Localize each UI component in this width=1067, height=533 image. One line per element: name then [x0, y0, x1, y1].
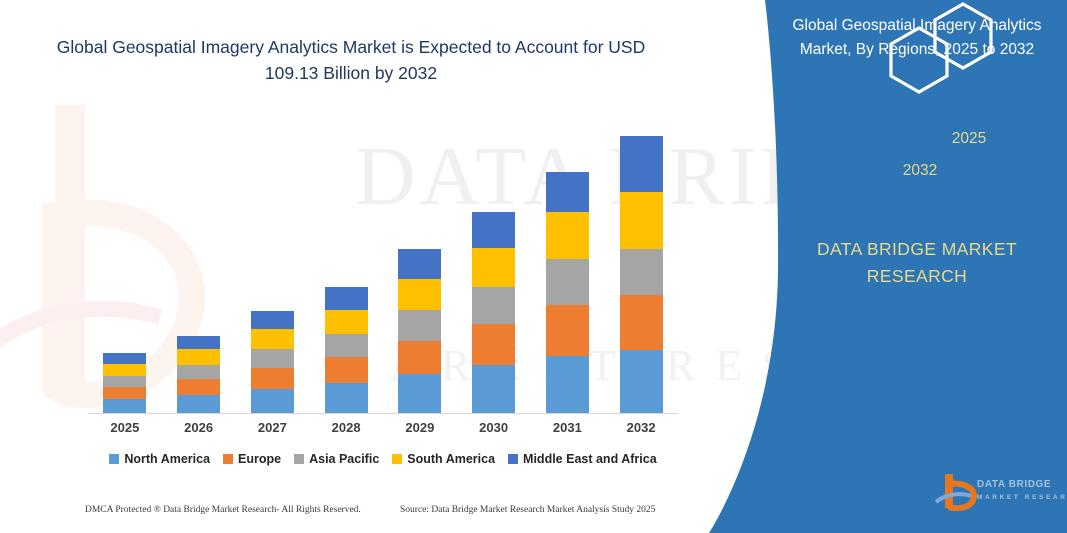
- bar-series-container: [88, 100, 678, 413]
- bar-segment-north-america: [103, 399, 146, 413]
- bar-column-2025: [88, 100, 161, 413]
- footer-source: Source: Data Bridge Market Research Mark…: [400, 505, 655, 515]
- bar-column-2030: [457, 100, 530, 413]
- bar-column-2026: [162, 100, 235, 413]
- x-axis-line: [88, 413, 678, 414]
- hexagon-2032-outline: [891, 28, 947, 92]
- bar-column-2027: [236, 100, 309, 413]
- logo-mark-icon: [935, 472, 979, 512]
- bar-segment-europe: [177, 379, 220, 395]
- company-logo: DATA BRIDGE MARKET RESEARCH: [935, 472, 1067, 518]
- brand-panel: Global Geospatial Imagery Analytics Mark…: [647, 0, 1067, 533]
- bar-segment-north-america: [325, 383, 368, 413]
- bar-segment-north-america: [177, 395, 220, 413]
- bar-segment-asia-pacific: [177, 365, 220, 379]
- legend-label: North America: [124, 452, 210, 466]
- legend-swatch-icon: [508, 454, 518, 464]
- bar-segment-asia-pacific: [103, 376, 146, 387]
- bar-segment-middle-east-and-africa: [325, 287, 368, 310]
- bar-segment-south-america: [546, 212, 589, 259]
- bar-stack: [546, 172, 589, 413]
- bar-segment-north-america: [251, 389, 294, 413]
- bar-segment-south-america: [472, 248, 515, 287]
- x-axis-label-2025: 2025: [88, 420, 161, 435]
- bar-segment-middle-east-and-africa: [546, 172, 589, 212]
- bar-segment-asia-pacific: [398, 310, 441, 341]
- bar-stack: [251, 311, 294, 413]
- bar-segment-middle-east-and-africa: [251, 311, 294, 329]
- legend-item-south-america: South America: [392, 452, 495, 466]
- legend-item-asia-pacific: Asia Pacific: [294, 452, 379, 466]
- bar-segment-europe: [398, 341, 441, 374]
- x-axis-label-2029: 2029: [383, 420, 456, 435]
- legend-swatch-icon: [223, 454, 233, 464]
- brand-line-2: RESEARCH: [867, 266, 967, 286]
- bar-segment-asia-pacific: [472, 287, 515, 324]
- hexagon-badges: [767, 0, 1047, 105]
- bar-segment-south-america: [251, 329, 294, 349]
- bar-segment-north-america: [472, 365, 515, 413]
- x-axis-label-2027: 2027: [236, 420, 309, 435]
- bar-segment-south-america: [103, 364, 146, 376]
- chart-legend: North AmericaEuropeAsia PacificSouth Ame…: [88, 452, 678, 466]
- legend-label: Middle East and Africa: [523, 452, 657, 466]
- bar-segment-asia-pacific: [325, 334, 368, 357]
- brand-line-1: DATA BRIDGE MARKET: [817, 239, 1017, 259]
- bar-stack: [103, 353, 146, 413]
- bar-column-2031: [531, 100, 604, 413]
- x-axis-label-2028: 2028: [310, 420, 383, 435]
- bar-column-2029: [383, 100, 456, 413]
- hexagon-2025-outline: [935, 4, 991, 68]
- bar-segment-asia-pacific: [251, 349, 294, 368]
- bar-segment-middle-east-and-africa: [177, 336, 220, 349]
- bar-segment-middle-east-and-africa: [103, 353, 146, 364]
- bar-segment-europe: [251, 368, 294, 389]
- bar-chart-plot-area: [88, 100, 678, 414]
- legend-label: South America: [407, 452, 495, 466]
- infographic-canvas: DATA BRIDGE MARKET RESEARCH Global Geosp…: [0, 0, 1067, 533]
- bar-column-2028: [310, 100, 383, 413]
- footer-copyright: DMCA Protected ® Data Bridge Market Rese…: [85, 505, 361, 515]
- bar-segment-middle-east-and-africa: [472, 212, 515, 248]
- legend-item-north-america: North America: [109, 452, 210, 466]
- bar-segment-middle-east-and-africa: [398, 249, 441, 279]
- bar-segment-south-america: [398, 279, 441, 310]
- bar-stack: [398, 249, 441, 413]
- bar-segment-europe: [546, 305, 589, 356]
- hexagon-2025-label: 2025: [939, 130, 999, 148]
- legend-swatch-icon: [294, 454, 304, 464]
- legend-label: Europe: [238, 452, 281, 466]
- logo-text-line-2: MARKET RESEARCH: [977, 493, 1067, 502]
- panel-content: Global Geospatial Imagery Analytics Mark…: [767, 0, 1067, 533]
- bar-segment-south-america: [177, 349, 220, 365]
- bar-segment-north-america: [546, 356, 589, 413]
- x-axis-label-2031: 2031: [531, 420, 604, 435]
- bar-stack: [177, 336, 220, 413]
- bar-segment-europe: [325, 357, 368, 383]
- bar-stack: [472, 212, 515, 413]
- hexagon-2032-label: 2032: [890, 162, 950, 180]
- x-axis-label-2026: 2026: [162, 420, 235, 435]
- bar-segment-south-america: [325, 310, 368, 334]
- logo-text-line-1: DATA BRIDGE: [977, 479, 1051, 490]
- x-axis-label-2030: 2030: [457, 420, 530, 435]
- logo-text: DATA BRIDGE MARKET RESEARCH: [977, 478, 1067, 502]
- bar-segment-europe: [472, 324, 515, 365]
- x-axis-labels: 20252026202720282029203020312032: [88, 420, 678, 435]
- brand-name: DATA BRIDGE MARKET RESEARCH: [777, 236, 1057, 290]
- legend-label: Asia Pacific: [309, 452, 379, 466]
- bar-segment-asia-pacific: [546, 259, 589, 305]
- bar-stack: [325, 287, 368, 413]
- legend-item-middle-east-and-africa: Middle East and Africa: [508, 452, 657, 466]
- legend-swatch-icon: [392, 454, 402, 464]
- legend-swatch-icon: [109, 454, 119, 464]
- chart-title: Global Geospatial Imagery Analytics Mark…: [46, 34, 656, 87]
- bar-segment-europe: [103, 387, 146, 399]
- legend-item-europe: Europe: [223, 452, 281, 466]
- bar-segment-north-america: [398, 374, 441, 413]
